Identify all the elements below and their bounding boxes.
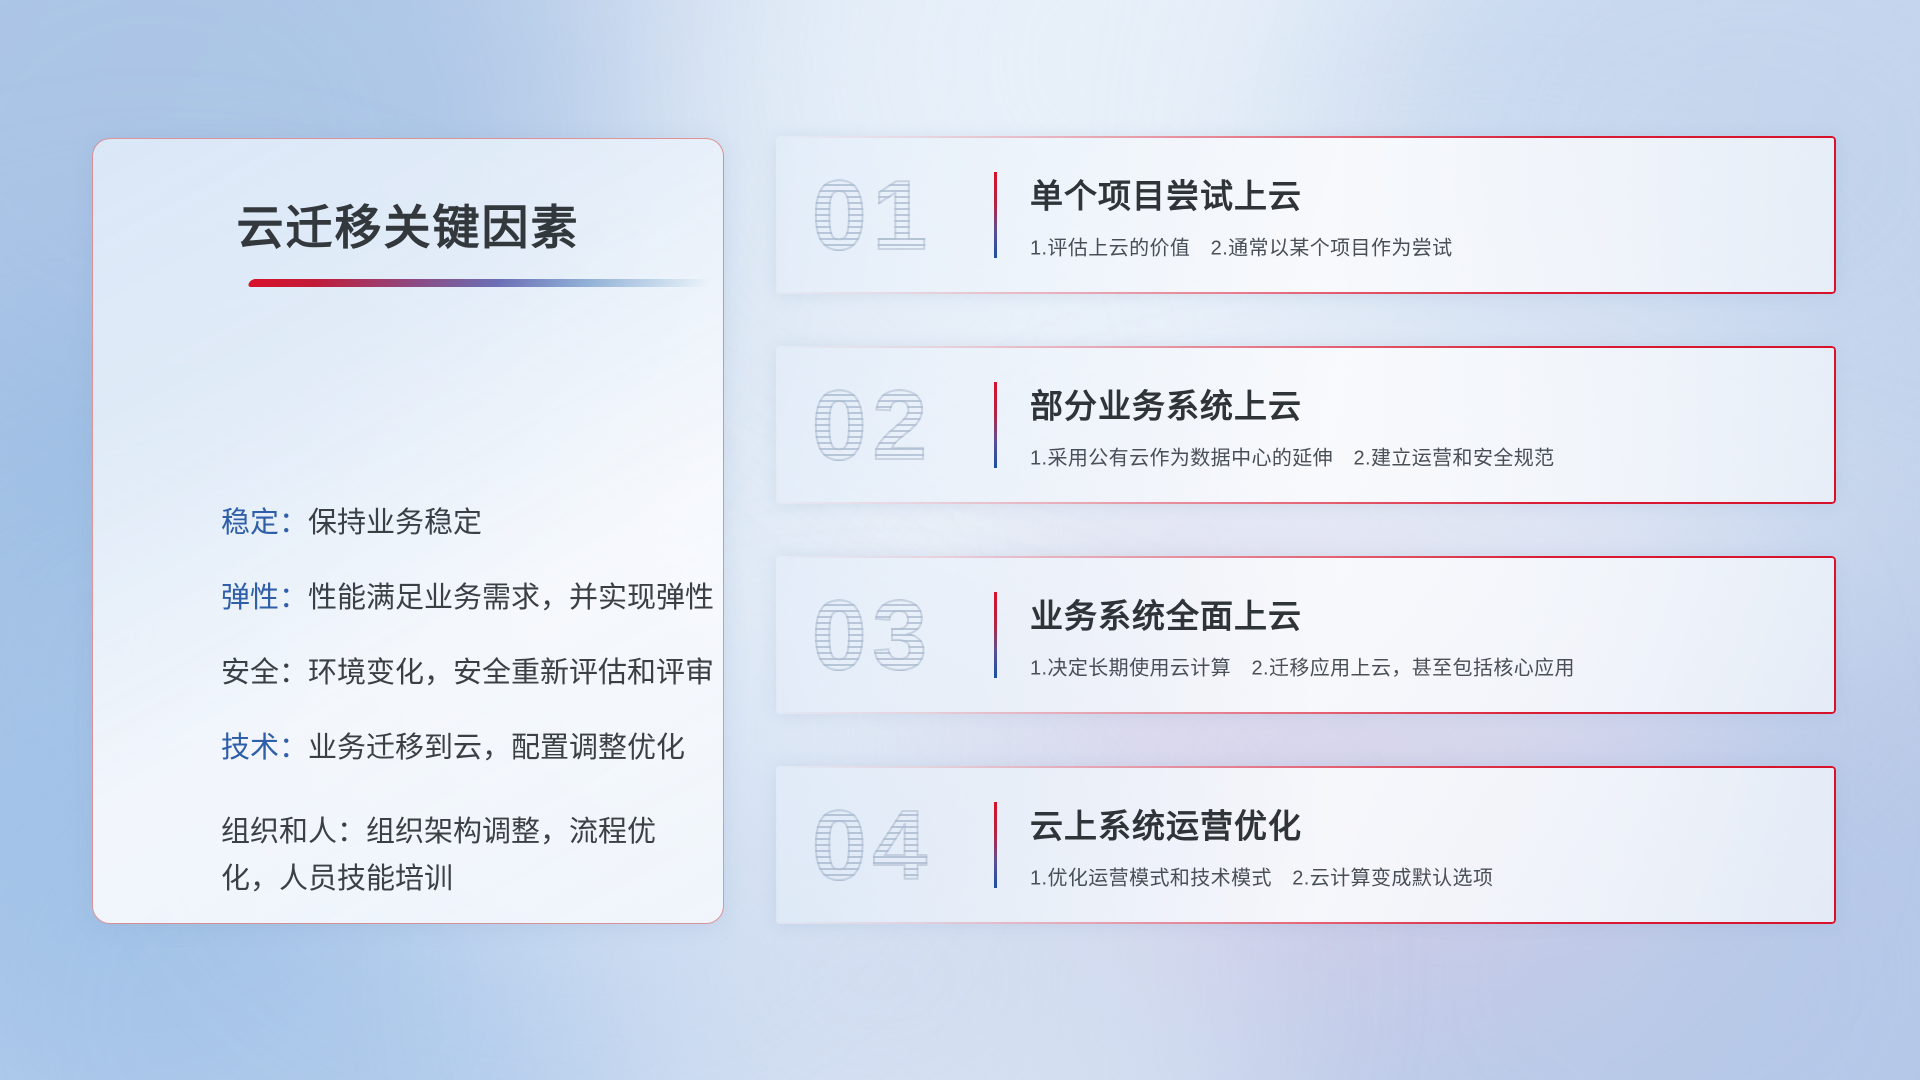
factor-row: 组织和人：组织架构调整，流程优化，人员技能培训 bbox=[221, 809, 697, 903]
stage-card[interactable]: 03业务系统全面上云1.决定长期使用云计算 2.迁移应用上云，甚至包括核心应用 bbox=[776, 556, 1836, 714]
stage-title: 部分业务系统上云 bbox=[1030, 380, 1555, 428]
stage-card-list: 01单个项目尝试上云1.评估上云的价值 2.通常以某个项目作为尝试02部分业务系… bbox=[776, 136, 1836, 976]
factor-label: 组织和人： bbox=[221, 816, 366, 848]
stage-card-body: 部分业务系统上云1.采用公有云作为数据中心的延伸 2.建立运营和安全规范 bbox=[1030, 380, 1555, 471]
stage-card[interactable]: 04云上系统运营优化1.优化运营模式和技术模式 2.云计算变成默认选项 bbox=[776, 766, 1836, 924]
factor-row: 安全：环境变化，安全重新评估和评审 bbox=[221, 659, 697, 688]
stage-title: 云上系统运营优化 bbox=[1030, 800, 1493, 848]
key-factors-panel: 云迁移关键因素 稳定：保持业务稳定弹性：性能满足业务需求，并实现弹性安全：环境变… bbox=[92, 138, 724, 924]
factor-text: 性能满足业务需求，并实现弹性 bbox=[308, 582, 714, 614]
stage-number: 04 bbox=[812, 796, 933, 894]
stage-title: 业务系统全面上云 bbox=[1030, 590, 1575, 638]
stage-card[interactable]: 02部分业务系统上云1.采用公有云作为数据中心的延伸 2.建立运营和安全规范 bbox=[776, 346, 1836, 504]
stage-number: 03 bbox=[812, 586, 933, 684]
accent-bar bbox=[994, 592, 997, 678]
accent-bar bbox=[994, 172, 997, 258]
factor-text: 保持业务稳定 bbox=[308, 507, 482, 539]
stage-number: 01 bbox=[812, 166, 933, 264]
factor-row: 技术：业务迁移到云，配置调整优化 bbox=[221, 734, 697, 763]
stage-title: 单个项目尝试上云 bbox=[1030, 170, 1453, 218]
slide-stage: 云迁移关键因素 稳定：保持业务稳定弹性：性能满足业务需求，并实现弹性安全：环境变… bbox=[0, 0, 1920, 1080]
stage-subtitle: 1.采用公有云作为数据中心的延伸 2.建立运营和安全规范 bbox=[1030, 442, 1555, 471]
stage-subtitle: 1.评估上云的价值 2.通常以某个项目作为尝试 bbox=[1030, 232, 1453, 261]
factor-text: 业务迁移到云，配置调整优化 bbox=[308, 732, 685, 764]
factor-label: 技术： bbox=[221, 732, 308, 764]
factor-row: 稳定：保持业务稳定 bbox=[221, 509, 697, 538]
stage-subtitle: 1.决定长期使用云计算 2.迁移应用上云，甚至包括核心应用 bbox=[1030, 652, 1575, 681]
page-title: 云迁移关键因素 bbox=[93, 189, 723, 258]
factor-list: 稳定：保持业务稳定弹性：性能满足业务需求，并实现弹性安全：环境变化，安全重新评估… bbox=[221, 509, 697, 924]
factor-label: 弹性： bbox=[221, 582, 308, 614]
factor-label: 安全： bbox=[221, 657, 308, 689]
title-underline-rule bbox=[247, 279, 711, 287]
factor-label: 稳定： bbox=[221, 507, 308, 539]
factor-row: 弹性：性能满足业务需求，并实现弹性 bbox=[221, 584, 697, 613]
accent-bar bbox=[994, 382, 997, 468]
stage-card[interactable]: 01单个项目尝试上云1.评估上云的价值 2.通常以某个项目作为尝试 bbox=[776, 136, 1836, 294]
stage-subtitle: 1.优化运营模式和技术模式 2.云计算变成默认选项 bbox=[1030, 862, 1493, 891]
factor-text: 环境变化，安全重新评估和评审 bbox=[308, 657, 714, 689]
stage-card-body: 业务系统全面上云1.决定长期使用云计算 2.迁移应用上云，甚至包括核心应用 bbox=[1030, 590, 1575, 681]
accent-bar bbox=[994, 802, 997, 888]
stage-number: 02 bbox=[812, 376, 933, 474]
stage-card-body: 云上系统运营优化1.优化运营模式和技术模式 2.云计算变成默认选项 bbox=[1030, 800, 1493, 891]
stage-card-body: 单个项目尝试上云1.评估上云的价值 2.通常以某个项目作为尝试 bbox=[1030, 170, 1453, 261]
